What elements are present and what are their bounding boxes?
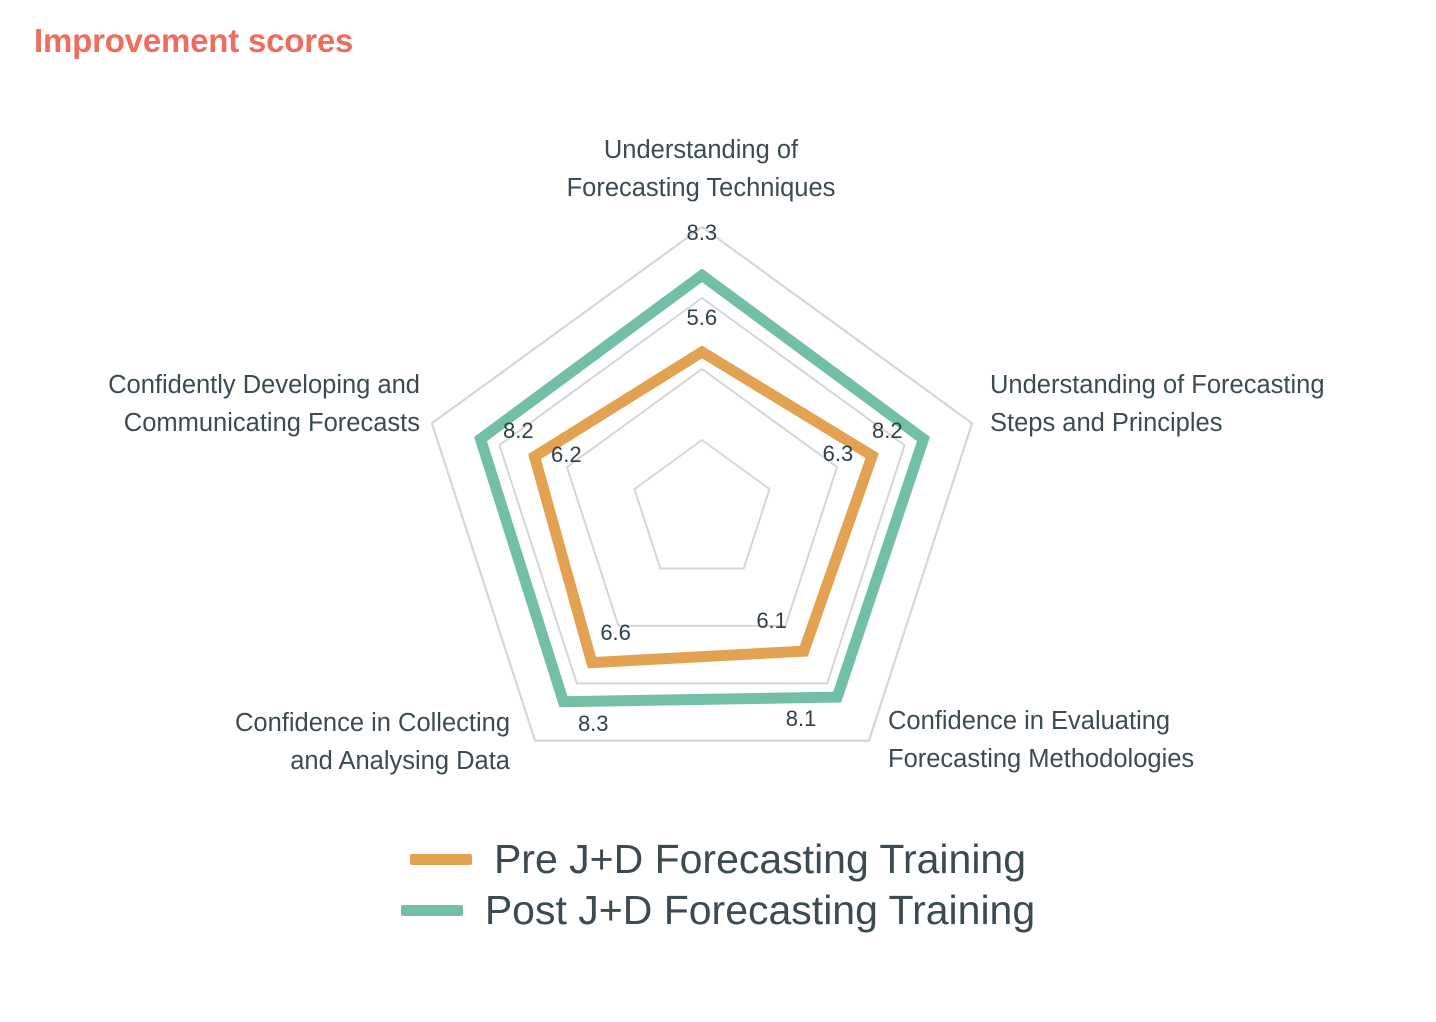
axis-label-understanding-techniques: Understanding of Forecasting Techniques [541,131,861,207]
legend-swatch-icon-post [401,905,463,916]
axis-label-understanding-steps: Understanding of Forecasting Steps and P… [990,366,1390,442]
value-label-post-right: 8.2 [872,418,903,444]
legend-item-post[interactable]: Post J+D Forecasting Training [401,889,1035,932]
legend-label-pre: Pre J+D Forecasting Training [494,838,1026,881]
value-label-post-bottom-left: 8.3 [578,711,609,737]
value-label-pre-top: 5.6 [687,305,718,331]
radar-series-polygon [535,352,873,663]
legend-label-post: Post J+D Forecasting Training [485,889,1035,932]
chart-page: Improvement scores Understanding of Fore… [0,0,1436,1022]
axis-label-collecting-analysing: Confidence in Collecting and Analysing D… [148,704,510,780]
legend-item-pre[interactable]: Pre J+D Forecasting Training [410,838,1026,881]
value-label-pre-bottom-left: 6.6 [600,620,631,646]
value-label-pre-left: 6.2 [551,442,582,468]
legend-swatch-icon-pre [410,854,472,865]
value-label-pre-right: 6.3 [823,441,854,467]
value-label-post-top: 8.3 [687,220,718,246]
axis-label-developing-communicating: Confidently Developing and Communicating… [48,366,420,442]
axis-label-evaluating-methodologies: Confidence in Evaluating Forecasting Met… [888,702,1288,778]
chart-legend: Pre J+D Forecasting Training Post J+D Fo… [0,838,1436,932]
value-label-pre-bottom-right: 6.1 [756,608,787,634]
value-label-post-left: 8.2 [503,418,534,444]
value-label-post-bottom-right: 8.1 [786,706,817,732]
radar-gridline-ring [634,440,769,568]
